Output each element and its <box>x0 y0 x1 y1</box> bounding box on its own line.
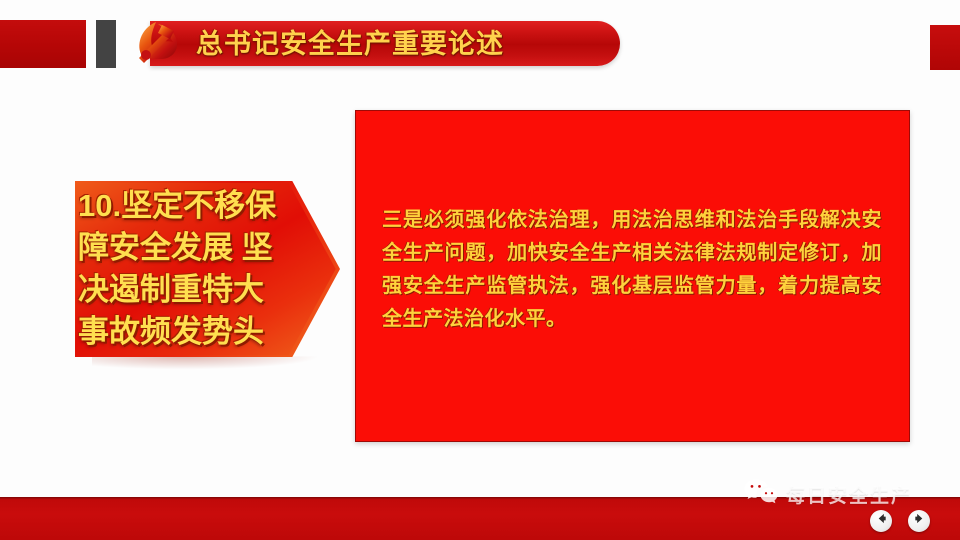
watermark: 每日安全生产 <box>744 478 912 510</box>
banner-line-4: 事故频发势头 <box>78 311 328 353</box>
header-gray-block <box>96 20 116 68</box>
prev-slide-button[interactable] <box>870 510 892 532</box>
content-paragraph: 三是必须强化依法治理，用法治思维和法治手段解决安全生产问题，加快安全生产相关法律… <box>382 204 882 336</box>
banner-line-1: 10.坚定不移保 <box>78 185 328 227</box>
page-title: 总书记安全生产重要论述 <box>196 22 504 67</box>
banner-line-3: 决遏制重特大 <box>78 269 328 311</box>
cpc-hammer-sickle-emblem-icon <box>128 12 184 68</box>
banner-drop-shadow <box>92 356 320 369</box>
watermark-text: 每日安全生产 <box>786 481 912 508</box>
next-slide-button[interactable] <box>908 510 930 532</box>
banner-line-2: 障安全发展 坚 <box>78 227 328 269</box>
arrow-left-icon <box>875 512 888 530</box>
slide-canvas: 总书记安全生产重要论述 10.坚定不移保 障安全发展 坚 决遏制重特大 事故频发… <box>0 0 960 540</box>
header-left-red-block <box>0 20 86 68</box>
arrow-right-icon <box>913 512 926 530</box>
section-banner-text: 10.坚定不移保 障安全发展 坚 决遏制重特大 事故频发势头 <box>78 183 328 355</box>
header-right-red-block <box>930 25 960 70</box>
wechat-icon <box>744 478 778 510</box>
